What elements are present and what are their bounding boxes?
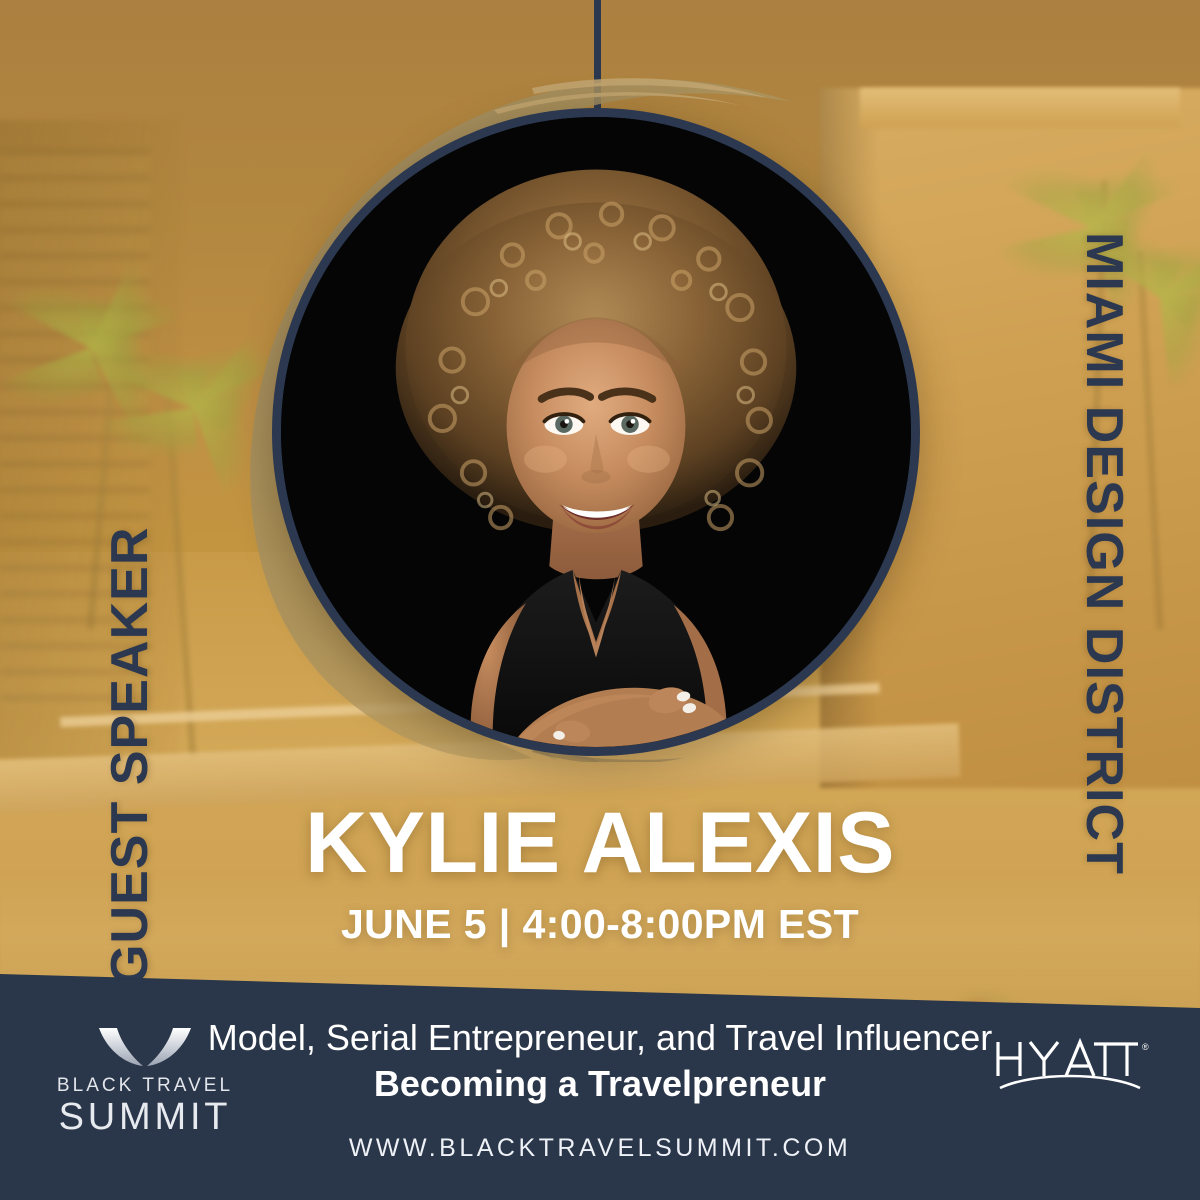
website-url[interactable]: WWW.BLACKTRAVELSUMMIT.COM xyxy=(349,1134,851,1163)
speaker-name: KYLIE ALEXIS xyxy=(0,800,1200,886)
hyatt-swoosh-icon: ® xyxy=(990,1036,1150,1098)
wings-mark-icon xyxy=(97,1026,193,1070)
speaker-portrait-circle xyxy=(272,108,920,756)
side-label-location: MIAMI DESIGN DISTRICT xyxy=(1074,232,1134,875)
speaker-role: Model, Serial Entrepreneur, and Travel I… xyxy=(180,1018,1020,1058)
registered-mark: ® xyxy=(1142,1042,1149,1052)
footer-text-block: Model, Serial Entrepreneur, and Travel I… xyxy=(180,1018,1020,1105)
portrait-ring xyxy=(272,108,920,756)
event-flyer: GUEST SPEAKER MIAMI DESIGN DISTRICT KYLI… xyxy=(0,0,1200,1200)
sponsor-logo-hyatt: ® xyxy=(990,1036,1150,1098)
event-datetime: JUNE 5 | 4:00-8:00PM EST xyxy=(0,904,1200,945)
portrait-photo xyxy=(281,117,911,747)
hanging-line xyxy=(594,0,601,125)
talk-topic: Becoming a Travelpreneur xyxy=(180,1064,1020,1104)
headline-block: KYLIE ALEXIS JUNE 5 | 4:00-8:00PM EST xyxy=(0,800,1200,945)
